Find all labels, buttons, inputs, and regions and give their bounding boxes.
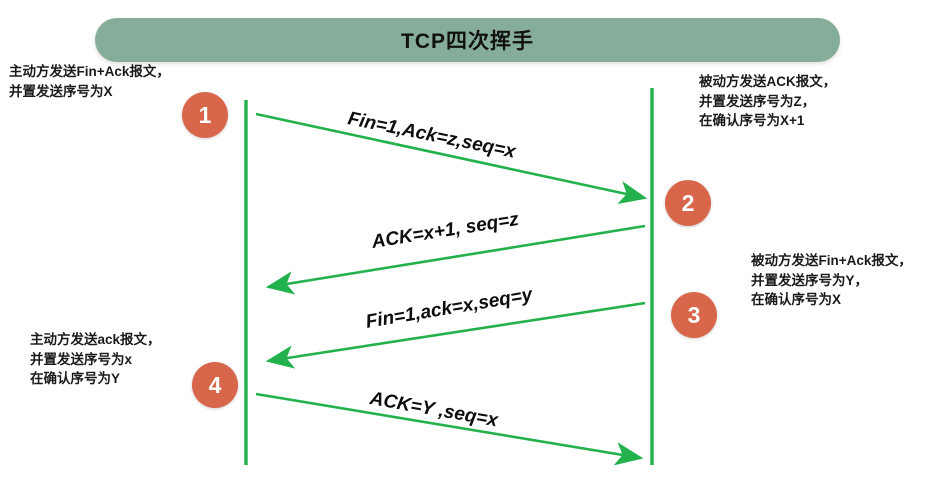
annotation-middle-right: 被动方发送Fin+Ack报文， 并置发送序号为Y， 在确认序号为X <box>751 251 912 310</box>
annotation-top-left-line-2: 并置发送序号为X <box>9 82 170 102</box>
step-circle-3: 3 <box>671 292 717 338</box>
annotation-bottom-left-line-2: 并置发送序号为x <box>30 350 161 370</box>
annotation-middle-right-line-3: 在确认序号为X <box>751 290 912 310</box>
step-circle-1: 1 <box>182 92 228 138</box>
annotation-middle-right-line-2: 并置发送序号为Y， <box>751 271 912 291</box>
annotation-middle-right-line-1: 被动方发送Fin+Ack报文， <box>751 251 912 271</box>
annotation-bottom-left-line-3: 在确认序号为Y <box>30 369 161 389</box>
annotation-top-right: 被动方发送ACK报文， 并置发送序号为Z， 在确认序号为X+1 <box>699 72 836 131</box>
annotation-bottom-left: 主动方发送ack报文， 并置发送序号为x 在确认序号为Y <box>30 330 161 389</box>
tcp-four-way-handshake-diagram: TCP四次挥手 Fin=1,Ack=z,seq=x ACK=x+1, seq=z… <box>0 0 935 477</box>
annotation-top-right-line-1: 被动方发送ACK报文， <box>699 72 836 92</box>
step-circle-4: 4 <box>192 362 238 408</box>
annotation-top-left-line-1: 主动方发送Fin+Ack报文， <box>9 62 170 82</box>
message-arrow-1 <box>256 114 645 198</box>
annotation-top-left: 主动方发送Fin+Ack报文， 并置发送序号为X <box>9 62 170 101</box>
annotation-top-right-line-3: 在确认序号为X+1 <box>699 111 836 131</box>
step-circle-2: 2 <box>665 180 711 226</box>
annotation-top-right-line-2: 并置发送序号为Z， <box>699 92 836 112</box>
annotation-bottom-left-line-1: 主动方发送ack报文， <box>30 330 161 350</box>
